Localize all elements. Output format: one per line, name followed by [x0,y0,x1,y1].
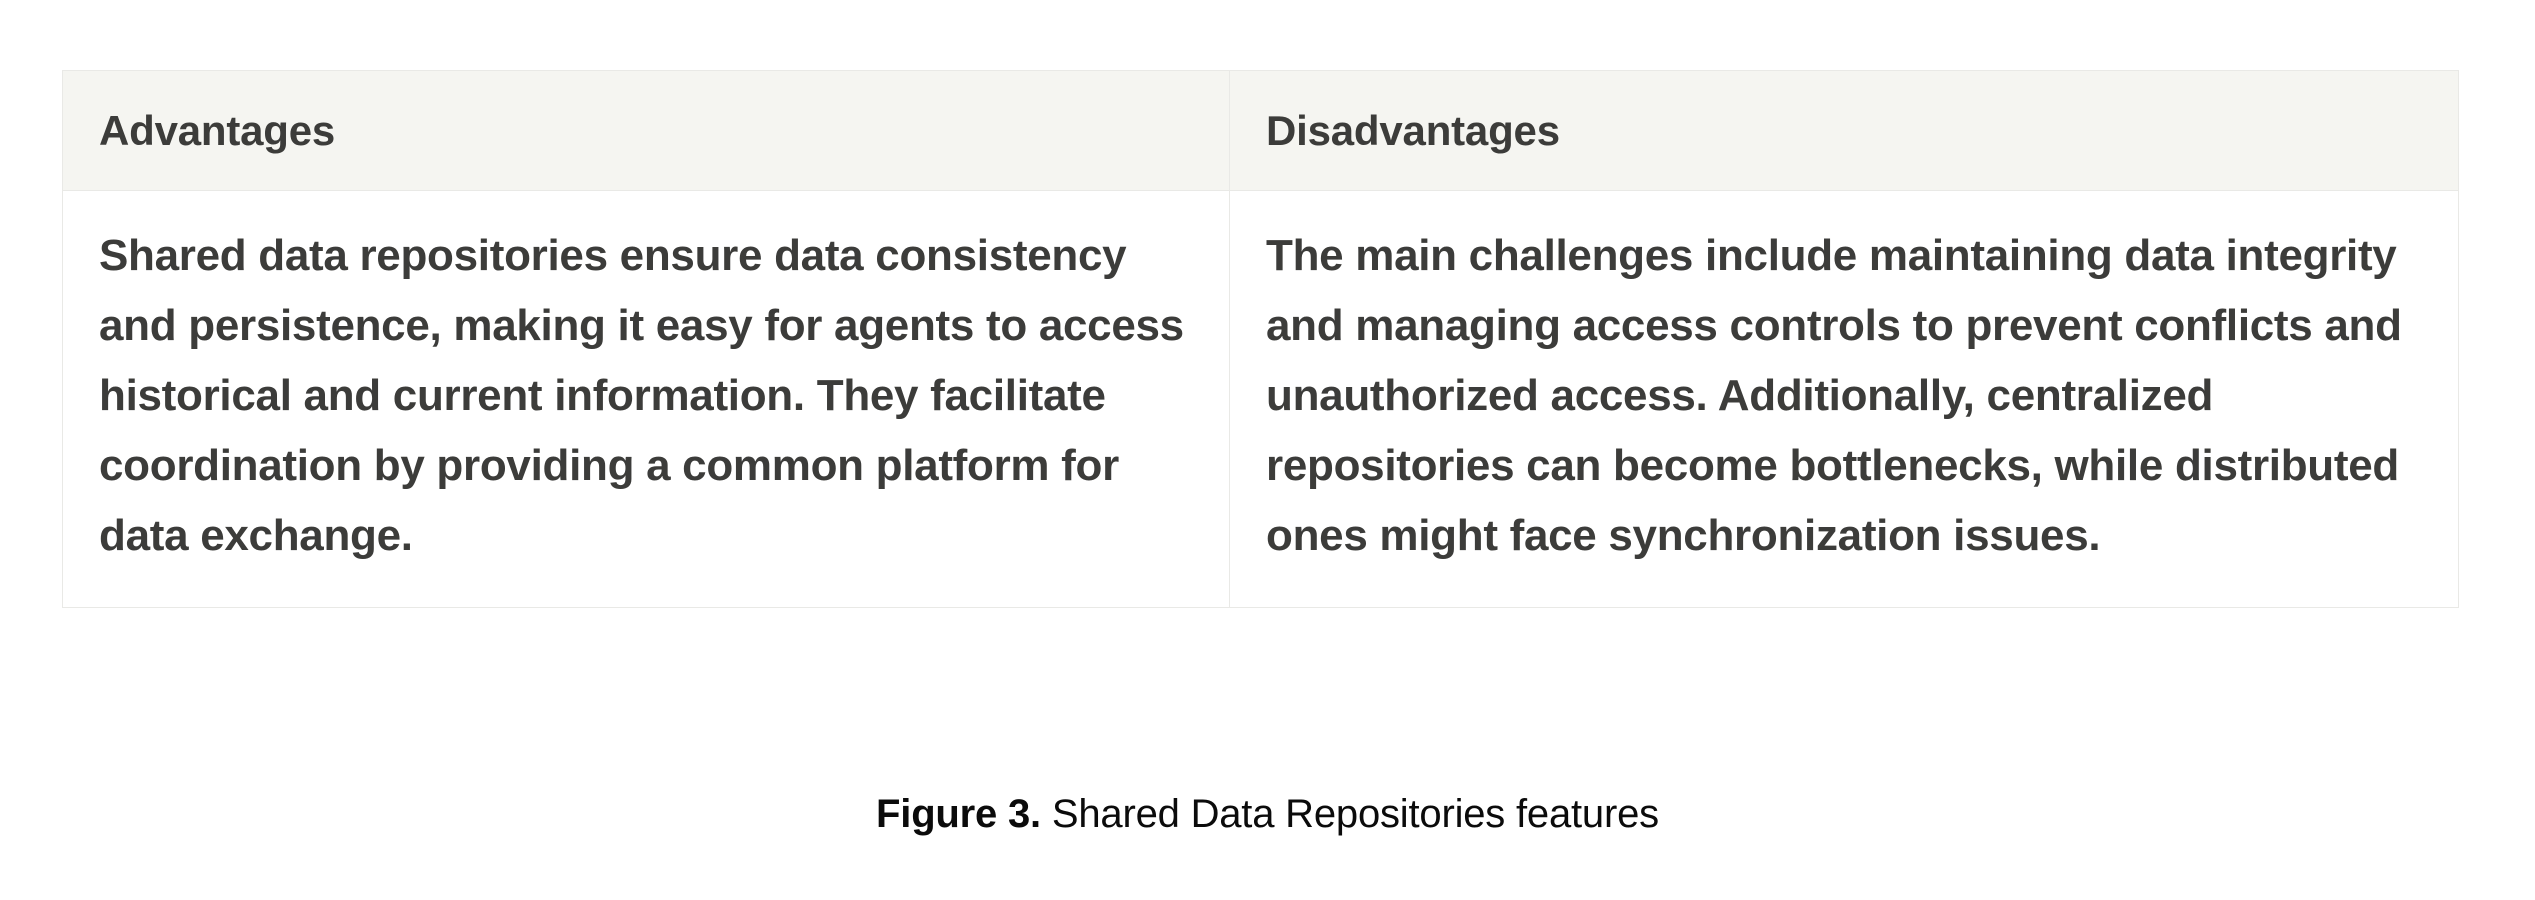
cell-advantages: Shared data repositories ensure data con… [63,191,1230,608]
column-header-disadvantages: Disadvantages [1230,71,2459,191]
table-row: Shared data repositories ensure data con… [63,191,2459,608]
table-body: Shared data repositories ensure data con… [63,191,2459,608]
cell-disadvantages: The main challenges include maintaining … [1230,191,2459,608]
table-header-row: Advantages Disadvantages [63,71,2459,191]
table-header: Advantages Disadvantages [63,71,2459,191]
column-header-advantages: Advantages [63,71,1230,191]
figure-caption-text: Shared Data Repositories features [1052,792,1659,836]
figure-caption: Figure 3. Shared Data Repositories featu… [0,788,2535,840]
figure-page: Advantages Disadvantages Shared data rep… [0,0,2535,900]
figure-caption-label: Figure 3. [876,792,1041,836]
features-comparison-table: Advantages Disadvantages Shared data rep… [62,70,2459,608]
